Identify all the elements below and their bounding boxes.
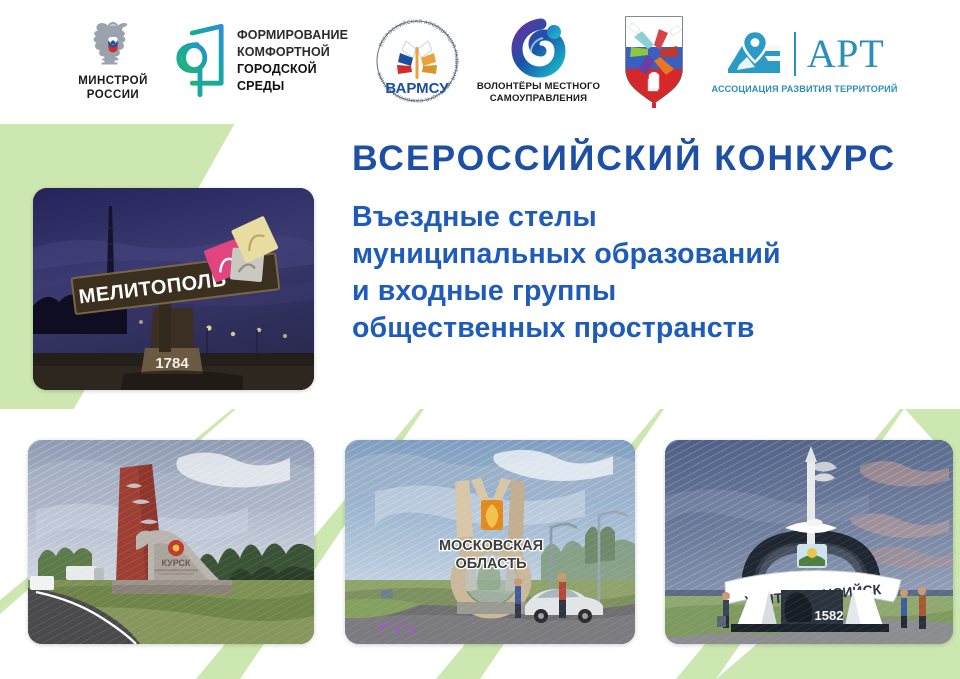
poster-canvas: МИНСТРОЙ РОССИИ ФОРМИРОВАНИЕ <box>0 0 960 679</box>
logo-volunteers-label: ВОЛОНТЁРЫ МЕСТНОГО САМОУПРАВЛЕНИЯ <box>477 81 600 105</box>
logo-minstroy: МИНСТРОЙ РОССИИ <box>53 11 173 111</box>
logo-art-label: АССОЦИАЦИЯ РАЗВИТИЯ ТЕРРИТОРИЙ <box>711 84 897 94</box>
logo-fkgs-label: ФОРМИРОВАНИЕ КОМФОРТНОЙ ГОРОДСКОЙ СРЕДЫ <box>237 27 363 96</box>
logo-minstroy-label: МИНСТРОЙ РОССИИ <box>78 75 148 102</box>
subtitle-line: общественных пространств <box>352 310 952 347</box>
varmsu-circular-emblem-icon: ВСЕРОССИЙСКАЯ АССОЦИАЦИЯ РАЗВИТИЯ МЕСТНО… <box>369 13 465 109</box>
logo-art-word: АРТ <box>807 34 884 74</box>
subtitle-line: и входные группы <box>352 273 952 310</box>
logo-fkgs: ФОРМИРОВАНИЕ КОМФОРТНОЙ ГОРОДСКОЙ СРЕДЫ <box>173 11 363 111</box>
melitopol-year-text: 1784 <box>155 355 189 372</box>
logo-varmsu-label: ВАРМСУ <box>385 80 449 97</box>
logo-coat-of-arms <box>606 11 702 111</box>
fkgs-house-leaf-icon <box>173 22 227 100</box>
tricolor-shield-hands-icon <box>618 13 690 109</box>
subtitle-line: муниципальных образований <box>352 236 952 273</box>
russian-double-headed-eagle-icon <box>84 19 142 71</box>
art-logo-divider <box>794 32 796 76</box>
photo-melitopol: 1784 МЕЛИТОПОЛЬ <box>33 188 314 390</box>
volunteers-droplet-icon <box>507 18 571 78</box>
photo-khanty-mansiysk: ХАНТЫ-МАНСИЙСК 1582 <box>665 440 953 644</box>
logo-art: АРТ АССОЦИАЦИЯ РАЗВИТИЯ ТЕРРИТОРИЙ <box>702 11 907 111</box>
logo-varmsu: ВСЕРОССИЙСКАЯ АССОЦИАЦИЯ РАЗВИТИЯ МЕСТНО… <box>363 11 471 111</box>
map-pin-icon <box>725 29 783 79</box>
photo-kursk: КУРСК <box>28 440 314 644</box>
partner-logo-bar: МИНСТРОЙ РОССИИ ФОРМИРОВАНИЕ <box>0 0 960 122</box>
title-block: ВСЕРОССИЙСКИЙ КОНКУРС Въездные стелы мун… <box>352 140 952 347</box>
photo-moscow-region: МОСКОВСКАЯ ОБЛАСТЬ <box>345 440 635 644</box>
page-title: ВСЕРОССИЙСКИЙ КОНКУРС <box>352 140 952 177</box>
subtitle-line: Въездные стелы <box>352 199 952 236</box>
page-subtitle: Въездные стелы муниципальных образований… <box>352 199 952 347</box>
logo-volunteers: ВОЛОНТЁРЫ МЕСТНОГО САМОУПРАВЛЕНИЯ <box>471 11 606 111</box>
